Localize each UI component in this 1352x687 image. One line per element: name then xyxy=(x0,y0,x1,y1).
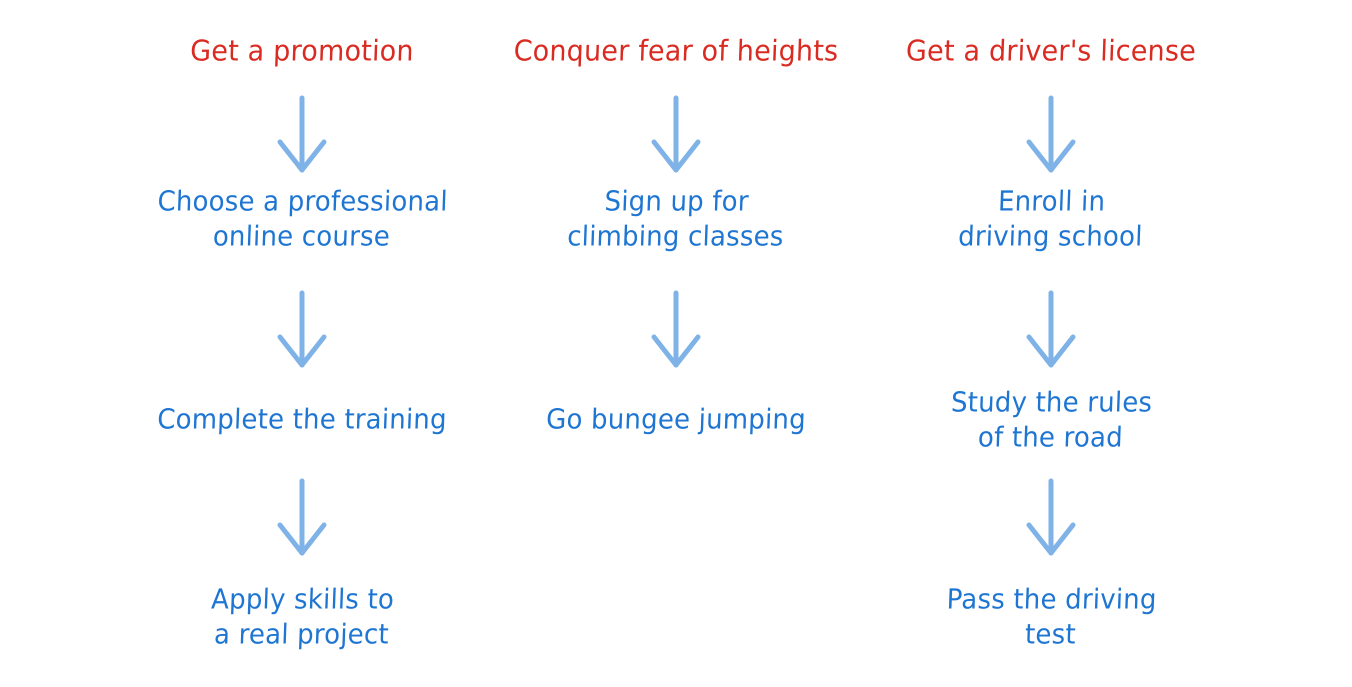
flow-arrow xyxy=(486,95,866,173)
step-node: Apply skills to a real project xyxy=(111,583,493,653)
flow-column-promotion: Get a promotionChoose a professional onl… xyxy=(112,0,492,687)
flow-column-heights: Conquer fear of heightsSign up for climb… xyxy=(486,0,866,687)
step-node: Go bungee jumping xyxy=(485,403,866,438)
flow-arrow xyxy=(861,290,1241,368)
goal-title: Get a driver's license xyxy=(860,34,1241,69)
step-node: Study the rules of the road xyxy=(860,386,1242,456)
step-node: Pass the driving test xyxy=(860,583,1242,653)
step-node: Choose a professional online course xyxy=(111,185,493,255)
goal-title: Get a promotion xyxy=(111,34,492,69)
flow-arrow xyxy=(861,95,1241,173)
flow-arrow xyxy=(861,478,1241,556)
flow-arrow xyxy=(112,478,492,556)
flow-arrow xyxy=(112,95,492,173)
goal-title: Conquer fear of heights xyxy=(485,34,866,69)
step-node: Enroll in driving school xyxy=(860,185,1242,255)
flow-arrow xyxy=(112,290,492,368)
flow-column-license: Get a driver's licenseEnroll in driving … xyxy=(861,0,1241,687)
flowchart-canvas: Get a promotionChoose a professional onl… xyxy=(0,0,1352,687)
step-node: Complete the training xyxy=(111,403,492,438)
flow-arrow xyxy=(486,290,866,368)
step-node: Sign up for climbing classes xyxy=(485,185,867,255)
